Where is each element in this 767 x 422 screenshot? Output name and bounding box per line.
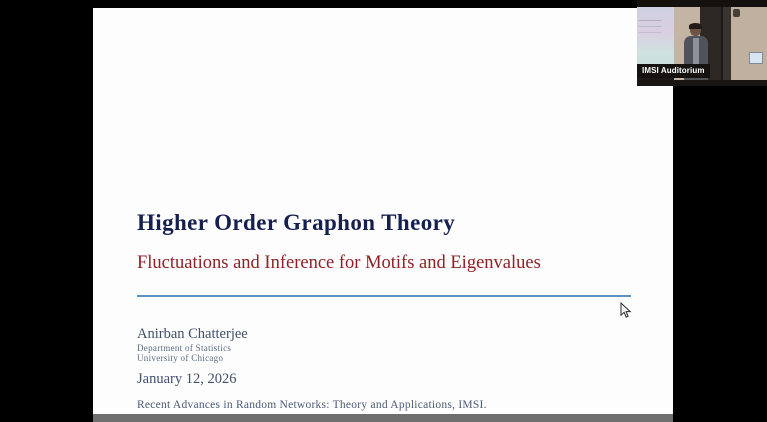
webcam-top-letterbox	[637, 0, 767, 7]
projection-screen	[637, 6, 674, 72]
presentation-venue: Recent Advances in Random Networks: Theo…	[137, 399, 487, 411]
webcam-source-label: IMSI Auditorium	[637, 64, 710, 78]
author-name: Anirban Chatterjee	[137, 326, 248, 343]
slide-content-area: Higher Order Graphon Theory Fluctuations…	[93, 8, 673, 412]
ceiling-fixture-icon	[733, 9, 740, 17]
video-player-viewport: Higher Order Graphon Theory Fluctuations…	[0, 0, 767, 422]
title-divider	[137, 295, 631, 297]
page-title: Higher Order Graphon Theory	[137, 210, 455, 236]
slide-subtitle: Fluctuations and Inference for Motifs an…	[137, 253, 541, 274]
projection-screen-text	[639, 20, 661, 21]
author-affiliation-department: Department of Statistics	[137, 343, 231, 353]
presentation-slide: Higher Order Graphon Theory Fluctuations…	[93, 8, 673, 422]
presenter-hair	[689, 23, 702, 29]
presenter-shirt	[693, 38, 699, 64]
author-affiliation-university: University of Chicago	[137, 353, 223, 363]
presentation-date: January 12, 2026	[137, 371, 236, 388]
webcam-bottom-letterbox	[637, 80, 767, 86]
webcam-overlay[interactable]: IMSI Auditorium	[637, 0, 767, 86]
auditorium-wall-right	[731, 6, 767, 86]
slide-bottom-bar	[93, 414, 673, 422]
auditorium-pillar-edge	[723, 6, 731, 86]
wall-panel-icon	[749, 52, 763, 64]
